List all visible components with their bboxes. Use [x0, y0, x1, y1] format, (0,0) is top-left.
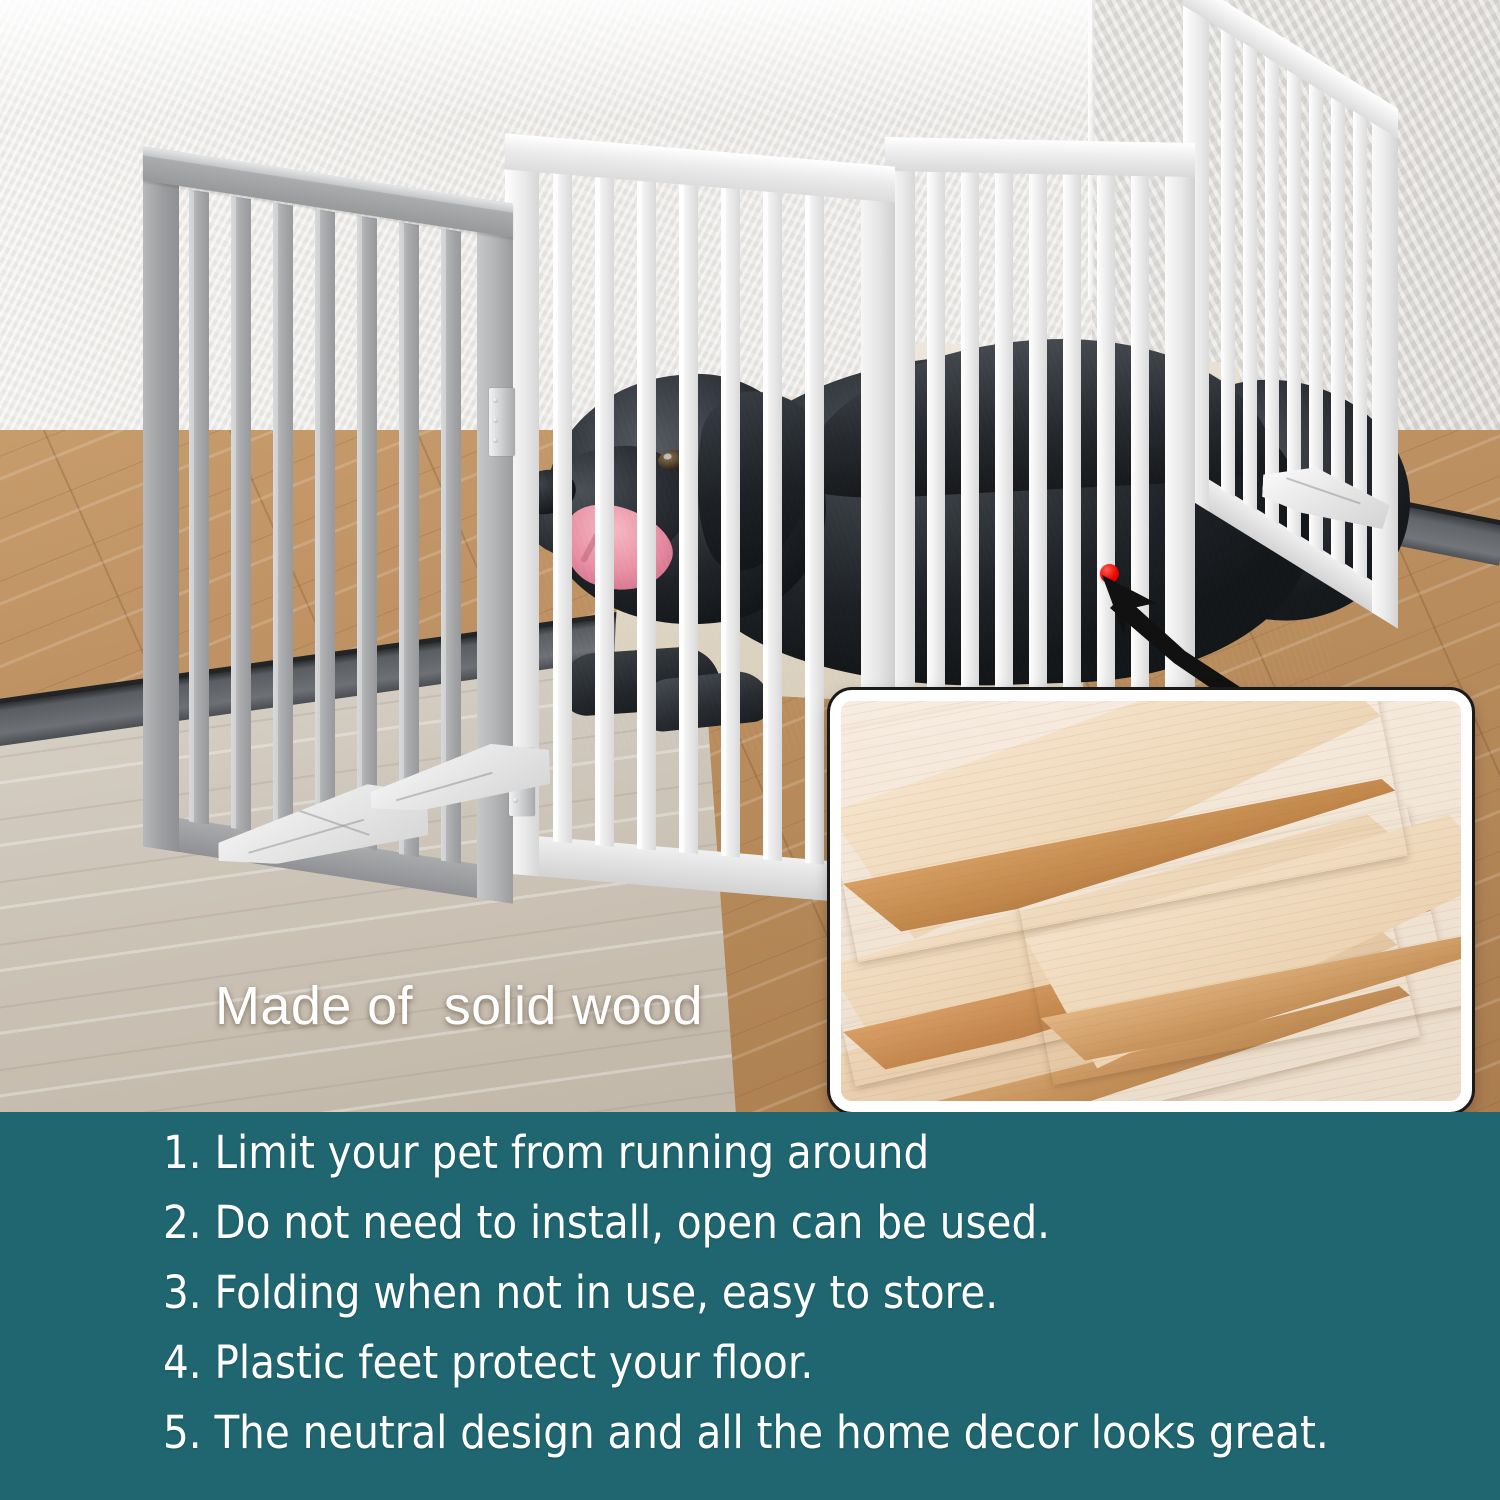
gate-bar	[805, 195, 824, 865]
gate-stile-left	[143, 146, 179, 852]
gate-bar	[637, 181, 656, 851]
gate-bar	[679, 184, 698, 854]
wood-sample-inset	[830, 690, 1472, 1112]
gate-bar	[399, 222, 419, 857]
gate-bar	[273, 202, 293, 837]
feature-item-5: 5. The neutral design and all the home d…	[163, 1410, 1463, 1455]
gate-rail-top	[885, 137, 1195, 177]
feature-item-3: 3. Folding when not in use, easy to stor…	[163, 1270, 1463, 1315]
gate-bar	[1243, 43, 1257, 512]
gate-bar	[231, 196, 251, 831]
made-of-solid-wood-caption: Made of solid wood	[215, 975, 703, 1037]
feature-item-1: 1. Limit your pet from running around	[163, 1130, 1463, 1175]
feature-list: 1. Limit your pet from running around 2.…	[163, 1130, 1463, 1480]
product-photo: Made of solid wood	[0, 0, 1500, 1112]
gate-bar	[189, 189, 209, 824]
gate-stile-right	[1372, 93, 1398, 629]
gate-bar	[721, 188, 740, 858]
gate-bar	[315, 209, 335, 844]
feature-item-4: 4. Plastic feet protect your floor.	[163, 1340, 1463, 1385]
product-marketing-image: Made of solid wood 1. Limit your pet fro…	[0, 0, 1500, 1500]
gate-bar	[357, 215, 377, 850]
gate-bar	[1221, 29, 1235, 498]
gate-bar	[1287, 70, 1301, 539]
gate-bar	[553, 174, 572, 844]
gate-bar	[595, 177, 614, 847]
gate-bar	[1265, 56, 1279, 525]
gate-bar	[763, 191, 782, 861]
gate-panel-far-right	[1183, 0, 1398, 629]
gate-stile-right	[477, 198, 513, 904]
feature-item-2: 2. Do not need to install, open can be u…	[163, 1200, 1463, 1245]
gate-hinge-upper	[489, 388, 515, 456]
callout-arrow-icon	[1090, 575, 1320, 705]
feature-banner: 1. Limit your pet from running around 2.…	[0, 1112, 1500, 1500]
